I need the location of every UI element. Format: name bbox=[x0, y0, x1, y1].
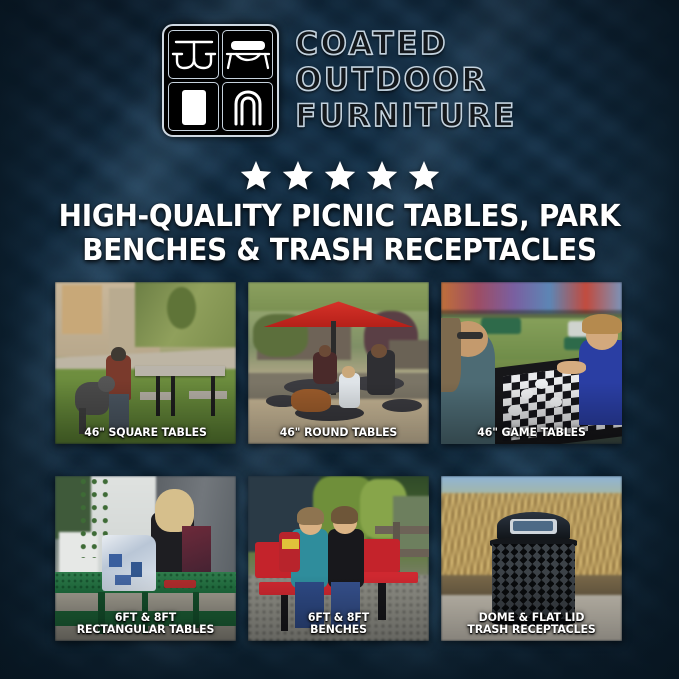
wordmark-line-furniture: FURNITURE bbox=[295, 99, 517, 134]
product-card-label: 6FT & 8FT BENCHES bbox=[256, 611, 420, 636]
product-label-line-1: 6FT & 8FT bbox=[115, 610, 176, 624]
product-label-line-1: DOME & FLAT LID bbox=[479, 610, 585, 624]
checkerboard-game-table-photo bbox=[441, 282, 622, 444]
product-card[interactable]: 6FT & 8FT BENCHES bbox=[248, 476, 429, 641]
wordmark-line-coated: COATED bbox=[295, 27, 517, 62]
brand-header: COATED OUTDOOR FURNITURE bbox=[0, 24, 679, 137]
product-card[interactable]: 6FT & 8FT RECTANGULAR TABLES bbox=[55, 476, 236, 641]
wordmark-line-outdoor: OUTDOOR bbox=[295, 63, 517, 98]
product-card-label: 46" SQUARE TABLES bbox=[63, 426, 227, 439]
product-card-label: 46" ROUND TABLES bbox=[256, 426, 420, 439]
product-card[interactable]: 46" GAME TABLES bbox=[441, 282, 622, 444]
bike-rack-icon bbox=[222, 82, 273, 131]
product-label-line-1: 46" ROUND TABLES bbox=[280, 425, 397, 439]
picnic-table-icon bbox=[168, 30, 219, 79]
product-label-line-2: RECTANGULAR TABLES bbox=[63, 623, 227, 636]
product-card[interactable]: 46" SQUARE TABLES bbox=[55, 282, 236, 444]
headline-line-1: HIGH-QUALITY PICNIC TABLES, PARK bbox=[59, 199, 621, 234]
product-label-line-1: 46" GAME TABLES bbox=[477, 425, 586, 439]
brand-wordmark: COATED OUTDOOR FURNITURE bbox=[295, 27, 517, 133]
product-label-line-1: 6FT & 8FT bbox=[308, 610, 369, 624]
product-card[interactable]: DOME & FLAT LID TRASH RECEPTACLES bbox=[441, 476, 622, 641]
product-card-label: 6FT & 8FT RECTANGULAR TABLES bbox=[63, 611, 227, 636]
star-icon bbox=[240, 160, 272, 191]
product-label-line-1: 46" SQUARE TABLES bbox=[84, 425, 207, 439]
poster-image: COATED OUTDOOR FURNITURE HIGH-QUALITY PI… bbox=[0, 0, 679, 679]
star-icon bbox=[408, 160, 440, 191]
product-grid: 46" SQUARE TABLES bbox=[55, 282, 622, 641]
star-icon bbox=[282, 160, 314, 191]
trash-receptacle-icon bbox=[168, 82, 219, 131]
product-card[interactable]: 46" ROUND TABLES bbox=[248, 282, 429, 444]
product-card-label: 46" GAME TABLES bbox=[449, 426, 613, 439]
coated-outdoor-furniture-logo bbox=[162, 24, 279, 137]
page-title: HIGH-QUALITY PICNIC TABLES, PARK BENCHES… bbox=[50, 200, 629, 268]
star-icon bbox=[366, 160, 398, 191]
square-table-with-woman-and-dog-photo bbox=[55, 282, 236, 444]
product-label-line-2: TRASH RECEPTACLES bbox=[449, 623, 613, 636]
star-rating bbox=[0, 160, 679, 191]
headline-line-2: BENCHES & TRASH RECEPTACLES bbox=[50, 234, 629, 268]
product-label-line-2: BENCHES bbox=[256, 623, 420, 636]
star-icon bbox=[324, 160, 356, 191]
park-bench-icon bbox=[222, 30, 273, 79]
product-card-label: DOME & FLAT LID TRASH RECEPTACLES bbox=[449, 611, 613, 636]
round-table-with-red-umbrella-photo bbox=[248, 282, 429, 444]
